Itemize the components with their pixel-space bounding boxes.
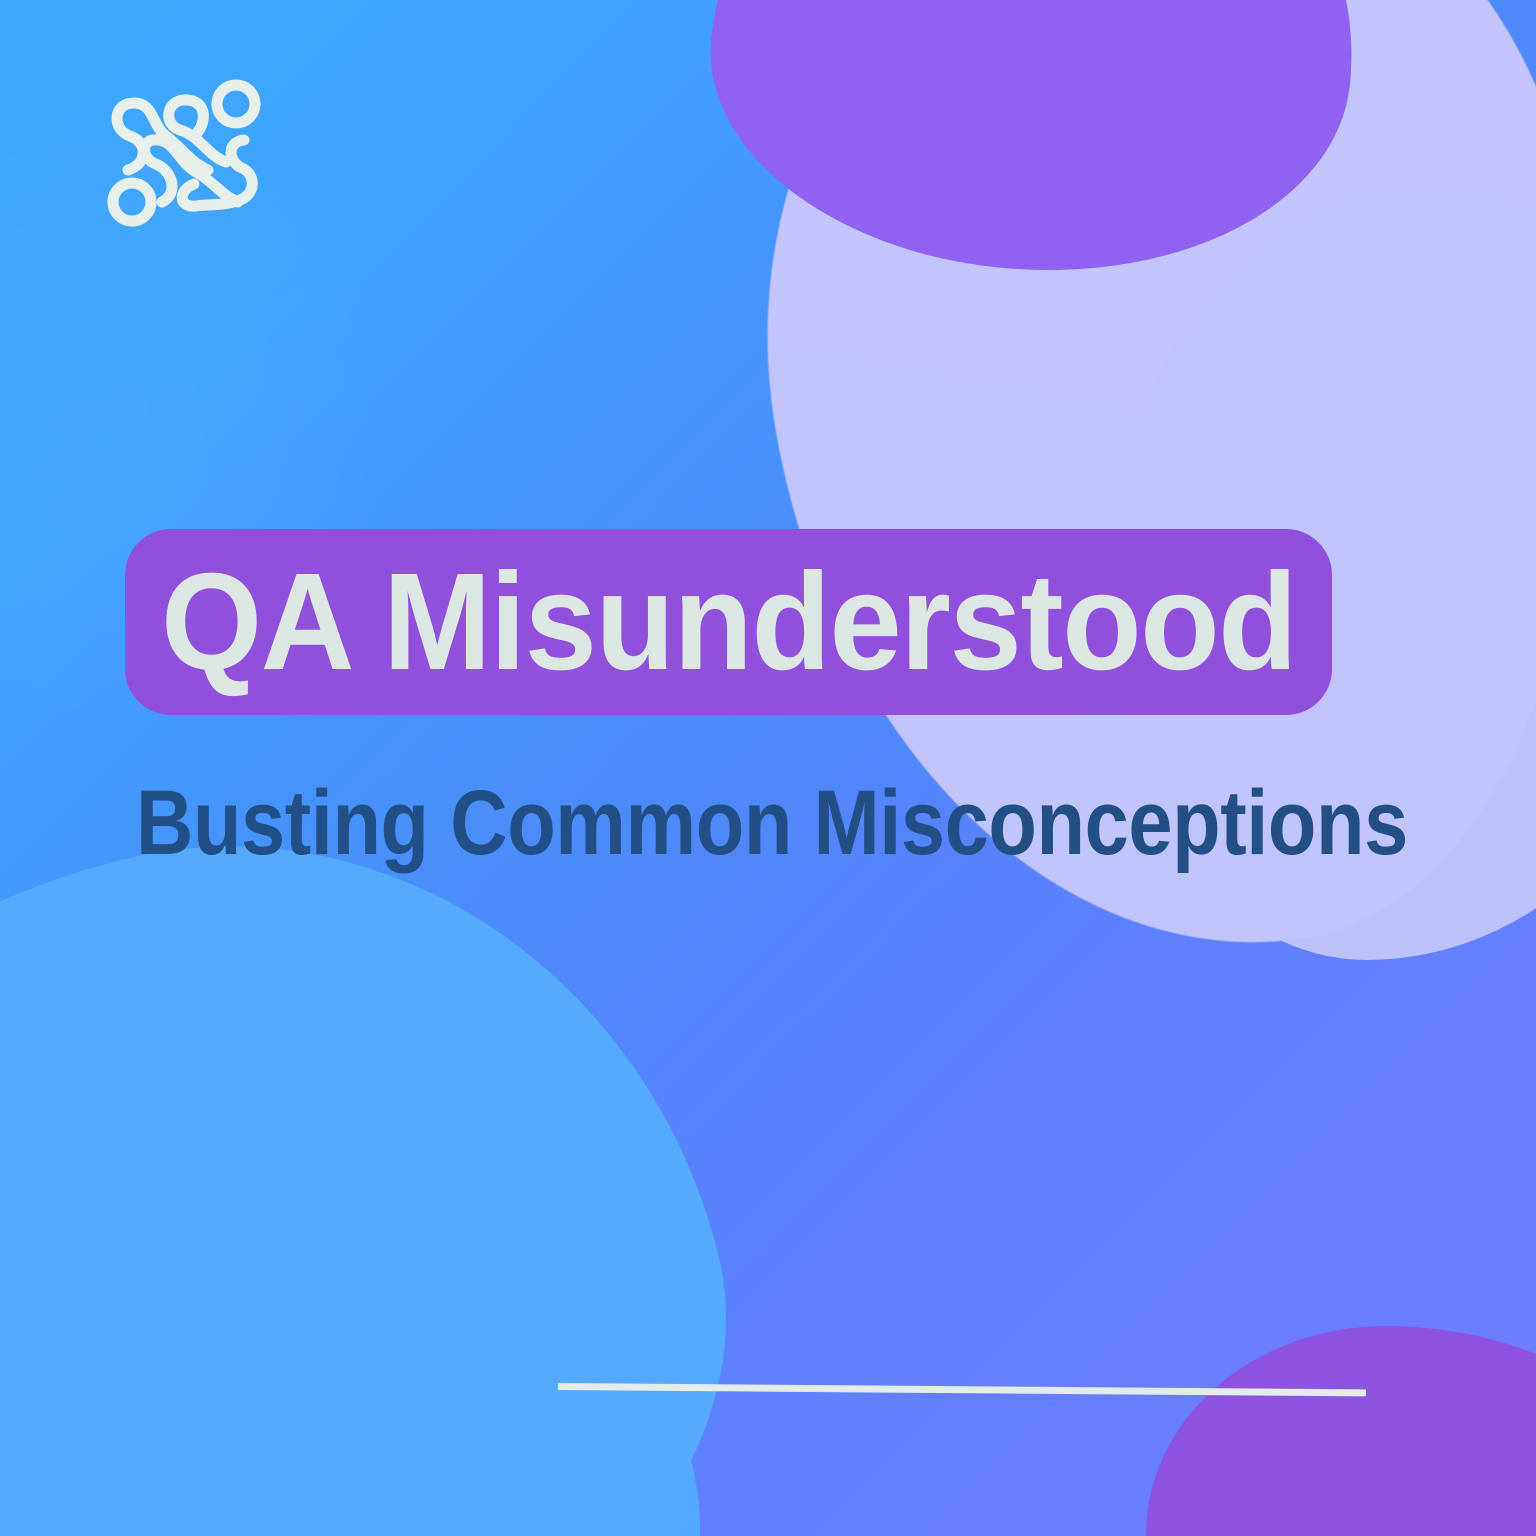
- page-subtitle: Busting Common Misconceptions: [136, 771, 1241, 877]
- decorative-blob-purple-top: [691, 0, 1382, 302]
- decorative-blob-skyblue-bottom-left-back: [0, 1136, 700, 1536]
- decorative-blob-purple-bottom-right: [1146, 1326, 1536, 1536]
- page-title: QA Misunderstood: [161, 553, 1296, 691]
- bottom-divider: [558, 1383, 1366, 1396]
- slide-canvas: QA Misunderstood Busting Common Misconce…: [0, 0, 1536, 1536]
- hero-title-badge: QA Misunderstood: [125, 529, 1332, 715]
- network-squiggle-logo-icon: [104, 78, 264, 228]
